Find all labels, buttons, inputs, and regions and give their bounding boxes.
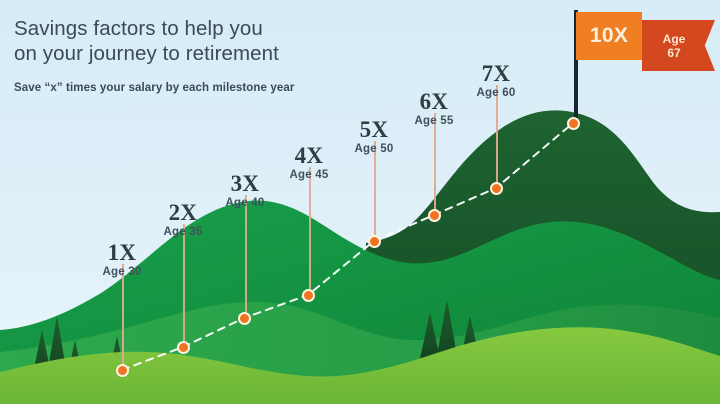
milestone-age: Age 50 <box>355 143 394 156</box>
milestone-marker-1x[interactable] <box>116 364 129 377</box>
milestone-age: Age 40 <box>226 197 265 210</box>
milestone-age: Age 35 <box>164 226 203 239</box>
milestone-marker-2x[interactable] <box>177 341 190 354</box>
milestone-marker-4x[interactable] <box>302 289 315 302</box>
flag-age-banner: Age 67 <box>642 20 715 71</box>
milestone-age: Age 55 <box>415 115 454 128</box>
infographic-canvas: Savings factors to help you on your jour… <box>0 0 720 404</box>
milestone-stem-1x <box>122 264 124 364</box>
milestone-factor: 3X <box>226 172 265 195</box>
milestone-factor: 5X <box>355 118 394 141</box>
milestone-label-1x: 1XAge 30 <box>103 241 142 279</box>
milestone-label-3x: 3XAge 40 <box>226 172 265 210</box>
milestone-marker-6x[interactable] <box>428 209 441 222</box>
milestone-factor: 6X <box>415 90 454 113</box>
milestone-marker-7x[interactable] <box>490 182 503 195</box>
milestone-stem-2x <box>183 224 185 341</box>
milestone-marker-5x[interactable] <box>368 235 381 248</box>
flag-factor-label: 10X <box>590 24 628 48</box>
milestone-label-7x: 7XAge 60 <box>477 62 516 100</box>
summit-flag: 10X Age 67 <box>565 6 720 126</box>
milestone-factor: 2X <box>164 201 203 224</box>
flag-age-label: Age 67 <box>663 32 695 60</box>
milestone-label-4x: 4XAge 45 <box>290 144 329 182</box>
milestone-factor: 1X <box>103 241 142 264</box>
milestone-factor: 4X <box>290 144 329 167</box>
page-title: Savings factors to help you on your jour… <box>14 16 444 66</box>
milestone-label-2x: 2XAge 35 <box>164 201 203 239</box>
milestone-age: Age 45 <box>290 169 329 182</box>
milestone-marker-3x[interactable] <box>238 312 251 325</box>
milestone-stem-3x <box>245 195 247 312</box>
milestone-stem-4x <box>309 167 311 289</box>
page-subtitle: Save “x” times your salary by each miles… <box>14 81 444 95</box>
flag-factor-banner: 10X <box>576 12 642 60</box>
milestone-marker-8x[interactable] <box>567 117 580 130</box>
milestone-age: Age 30 <box>103 266 142 279</box>
milestone-factor: 7X <box>477 62 516 85</box>
milestone-age: Age 60 <box>477 87 516 100</box>
milestone-label-6x: 6XAge 55 <box>415 90 454 128</box>
milestone-label-5x: 5XAge 50 <box>355 118 394 156</box>
